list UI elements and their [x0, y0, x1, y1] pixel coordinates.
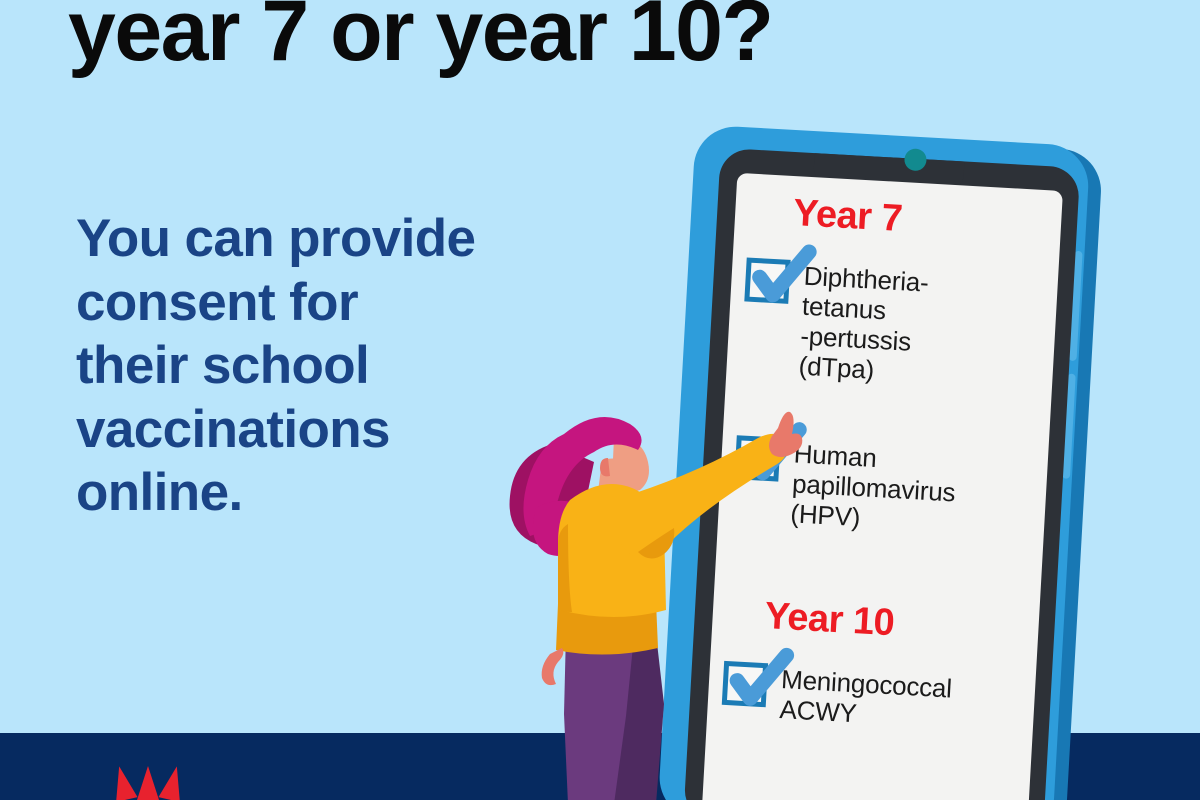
dtpa-line-2: tetanus: [801, 291, 886, 326]
checklist-item-dtpa[interactable]: Diphtheria- tetanus -pertussis (dTpa): [740, 257, 929, 388]
logo-petal-left: [108, 764, 137, 800]
character-pointing-hand: [769, 412, 802, 457]
dtpa-line-4: (dTpa): [798, 351, 875, 385]
checklist-label-dtpa: Diphtheria- tetanus -pertussis (dTpa): [798, 261, 930, 388]
character-illustration: [506, 404, 836, 800]
logo-petal-middle: [137, 766, 159, 800]
checkmark-icon: [746, 247, 815, 313]
character-resting-hand: [542, 648, 564, 685]
waratah-logo-mark-icon: [112, 769, 184, 800]
page-headline: year 7 or year 10?: [68, 0, 773, 77]
body-copy-line-1: You can provide: [76, 207, 596, 271]
logo-petal-right: [158, 764, 187, 800]
body-copy-line-3: their school: [76, 334, 596, 398]
body-copy-line-2: consent for: [76, 271, 596, 335]
checkbox-dtpa[interactable]: [744, 257, 790, 303]
poster-canvas: year 7 or year 10? You can provide conse…: [0, 0, 1200, 800]
section-heading-year-7: Year 7: [792, 192, 903, 241]
